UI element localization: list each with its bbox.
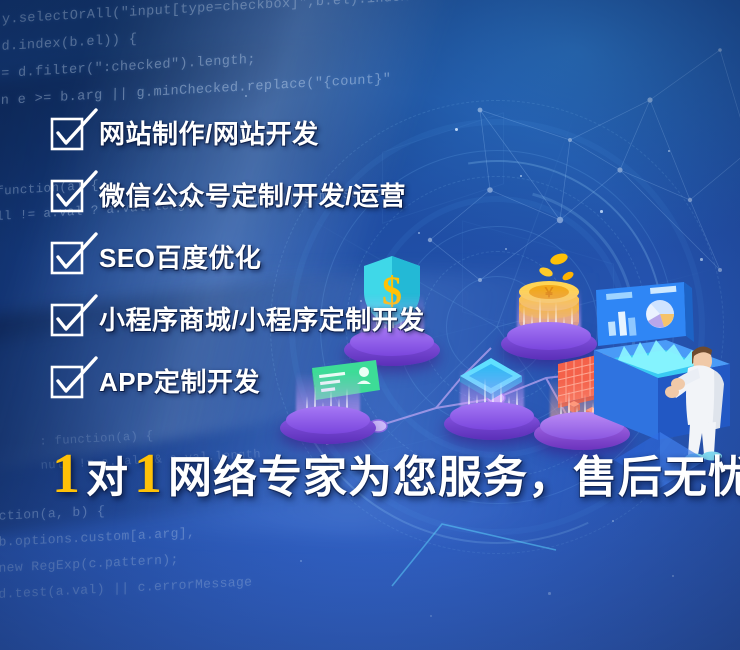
feature-item-website[interactable]: 网站制作/网站开发 bbox=[52, 101, 692, 163]
checkbox-checked-icon bbox=[52, 241, 84, 271]
headline-slogan: 1 对 1 网络专家为您服务，售后无忧！ bbox=[50, 446, 740, 502]
feature-label: APP定制开发 bbox=[99, 362, 260, 399]
checkbox-checked-icon bbox=[52, 303, 84, 333]
banner-content: 网站制作/网站开发 微信公众号定制/开发/运营 bbox=[0, 0, 740, 650]
feature-item-seo[interactable]: SEO百度优化 bbox=[52, 225, 692, 287]
feature-label: 微信公众号定制/开发/运营 bbox=[99, 176, 406, 213]
checkbox-checked-icon bbox=[52, 117, 84, 147]
feature-label: 网站制作/网站开发 bbox=[99, 114, 319, 151]
headline-tagline: 网络专家为您服务，售后无忧！ bbox=[168, 456, 740, 500]
feature-item-miniprogram[interactable]: 小程序商城/小程序定制开发 bbox=[52, 287, 692, 349]
feature-label: SEO百度优化 bbox=[99, 238, 261, 275]
promo-banner: y.selectOrAll("input[type=checkbox]",b.e… bbox=[0, 0, 740, 650]
checkbox-checked-icon bbox=[52, 365, 84, 395]
feature-item-wechat[interactable]: 微信公众号定制/开发/运营 bbox=[52, 163, 692, 225]
headline-number-first: 1 bbox=[50, 446, 82, 502]
checkbox-checked-icon bbox=[52, 179, 84, 209]
feature-item-app[interactable]: APP定制开发 bbox=[52, 349, 692, 411]
headline-connector: 对 bbox=[82, 457, 132, 499]
feature-list: 网站制作/网站开发 微信公众号定制/开发/运营 bbox=[52, 101, 692, 411]
headline-number-second: 1 bbox=[132, 446, 164, 502]
feature-label: 小程序商城/小程序定制开发 bbox=[99, 300, 425, 337]
